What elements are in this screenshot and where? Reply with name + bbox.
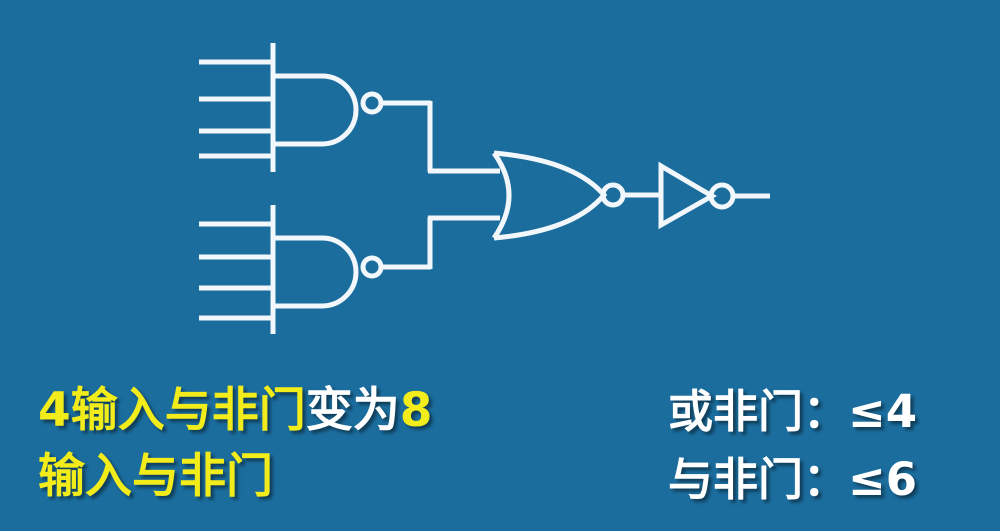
caption-left-line-1: 4输入与非门变为8 [38, 378, 558, 444]
nand-bottom-body [273, 238, 356, 306]
caption-right-block: 或非门：≤4 与非门：≤6 [668, 378, 998, 514]
nor-back-curve [494, 153, 509, 238]
gate-inverter [661, 166, 770, 225]
nand-top-body [273, 76, 356, 144]
caption-left-line-2: 输入与非门 [38, 444, 558, 510]
caption-left-line1-seg2: 变为 [306, 383, 400, 438]
gate-nand-top [199, 43, 431, 172]
nand-bottom-bubble [363, 258, 381, 276]
inverter-triangle [661, 166, 712, 225]
caption-left-line1-seg3: 8 [400, 383, 433, 438]
nand-top-bubble [363, 94, 381, 112]
gate-nor [494, 153, 661, 238]
logic-circuit-diagram [0, 0, 1000, 360]
caption-left-line1-seg1: 4输入与非门 [38, 383, 306, 438]
gate-nand-bottom [199, 205, 431, 334]
caption-left-line2-seg1: 输入与非门 [38, 449, 273, 504]
caption-left-block: 4输入与非门变为8 输入与非门 [38, 378, 558, 510]
caption-right-line-2: 与非门：≤6 [668, 446, 998, 514]
interconnect-bus [428, 101, 500, 269]
caption-right-line-1: 或非门：≤4 [668, 378, 998, 446]
caption-layer: 4输入与非门变为8 输入与非门 或非门：≤4 与非门：≤6 [0, 358, 1000, 531]
slide-canvas: 4输入与非门变为8 输入与非门 或非门：≤4 与非门：≤6 [0, 0, 1000, 531]
